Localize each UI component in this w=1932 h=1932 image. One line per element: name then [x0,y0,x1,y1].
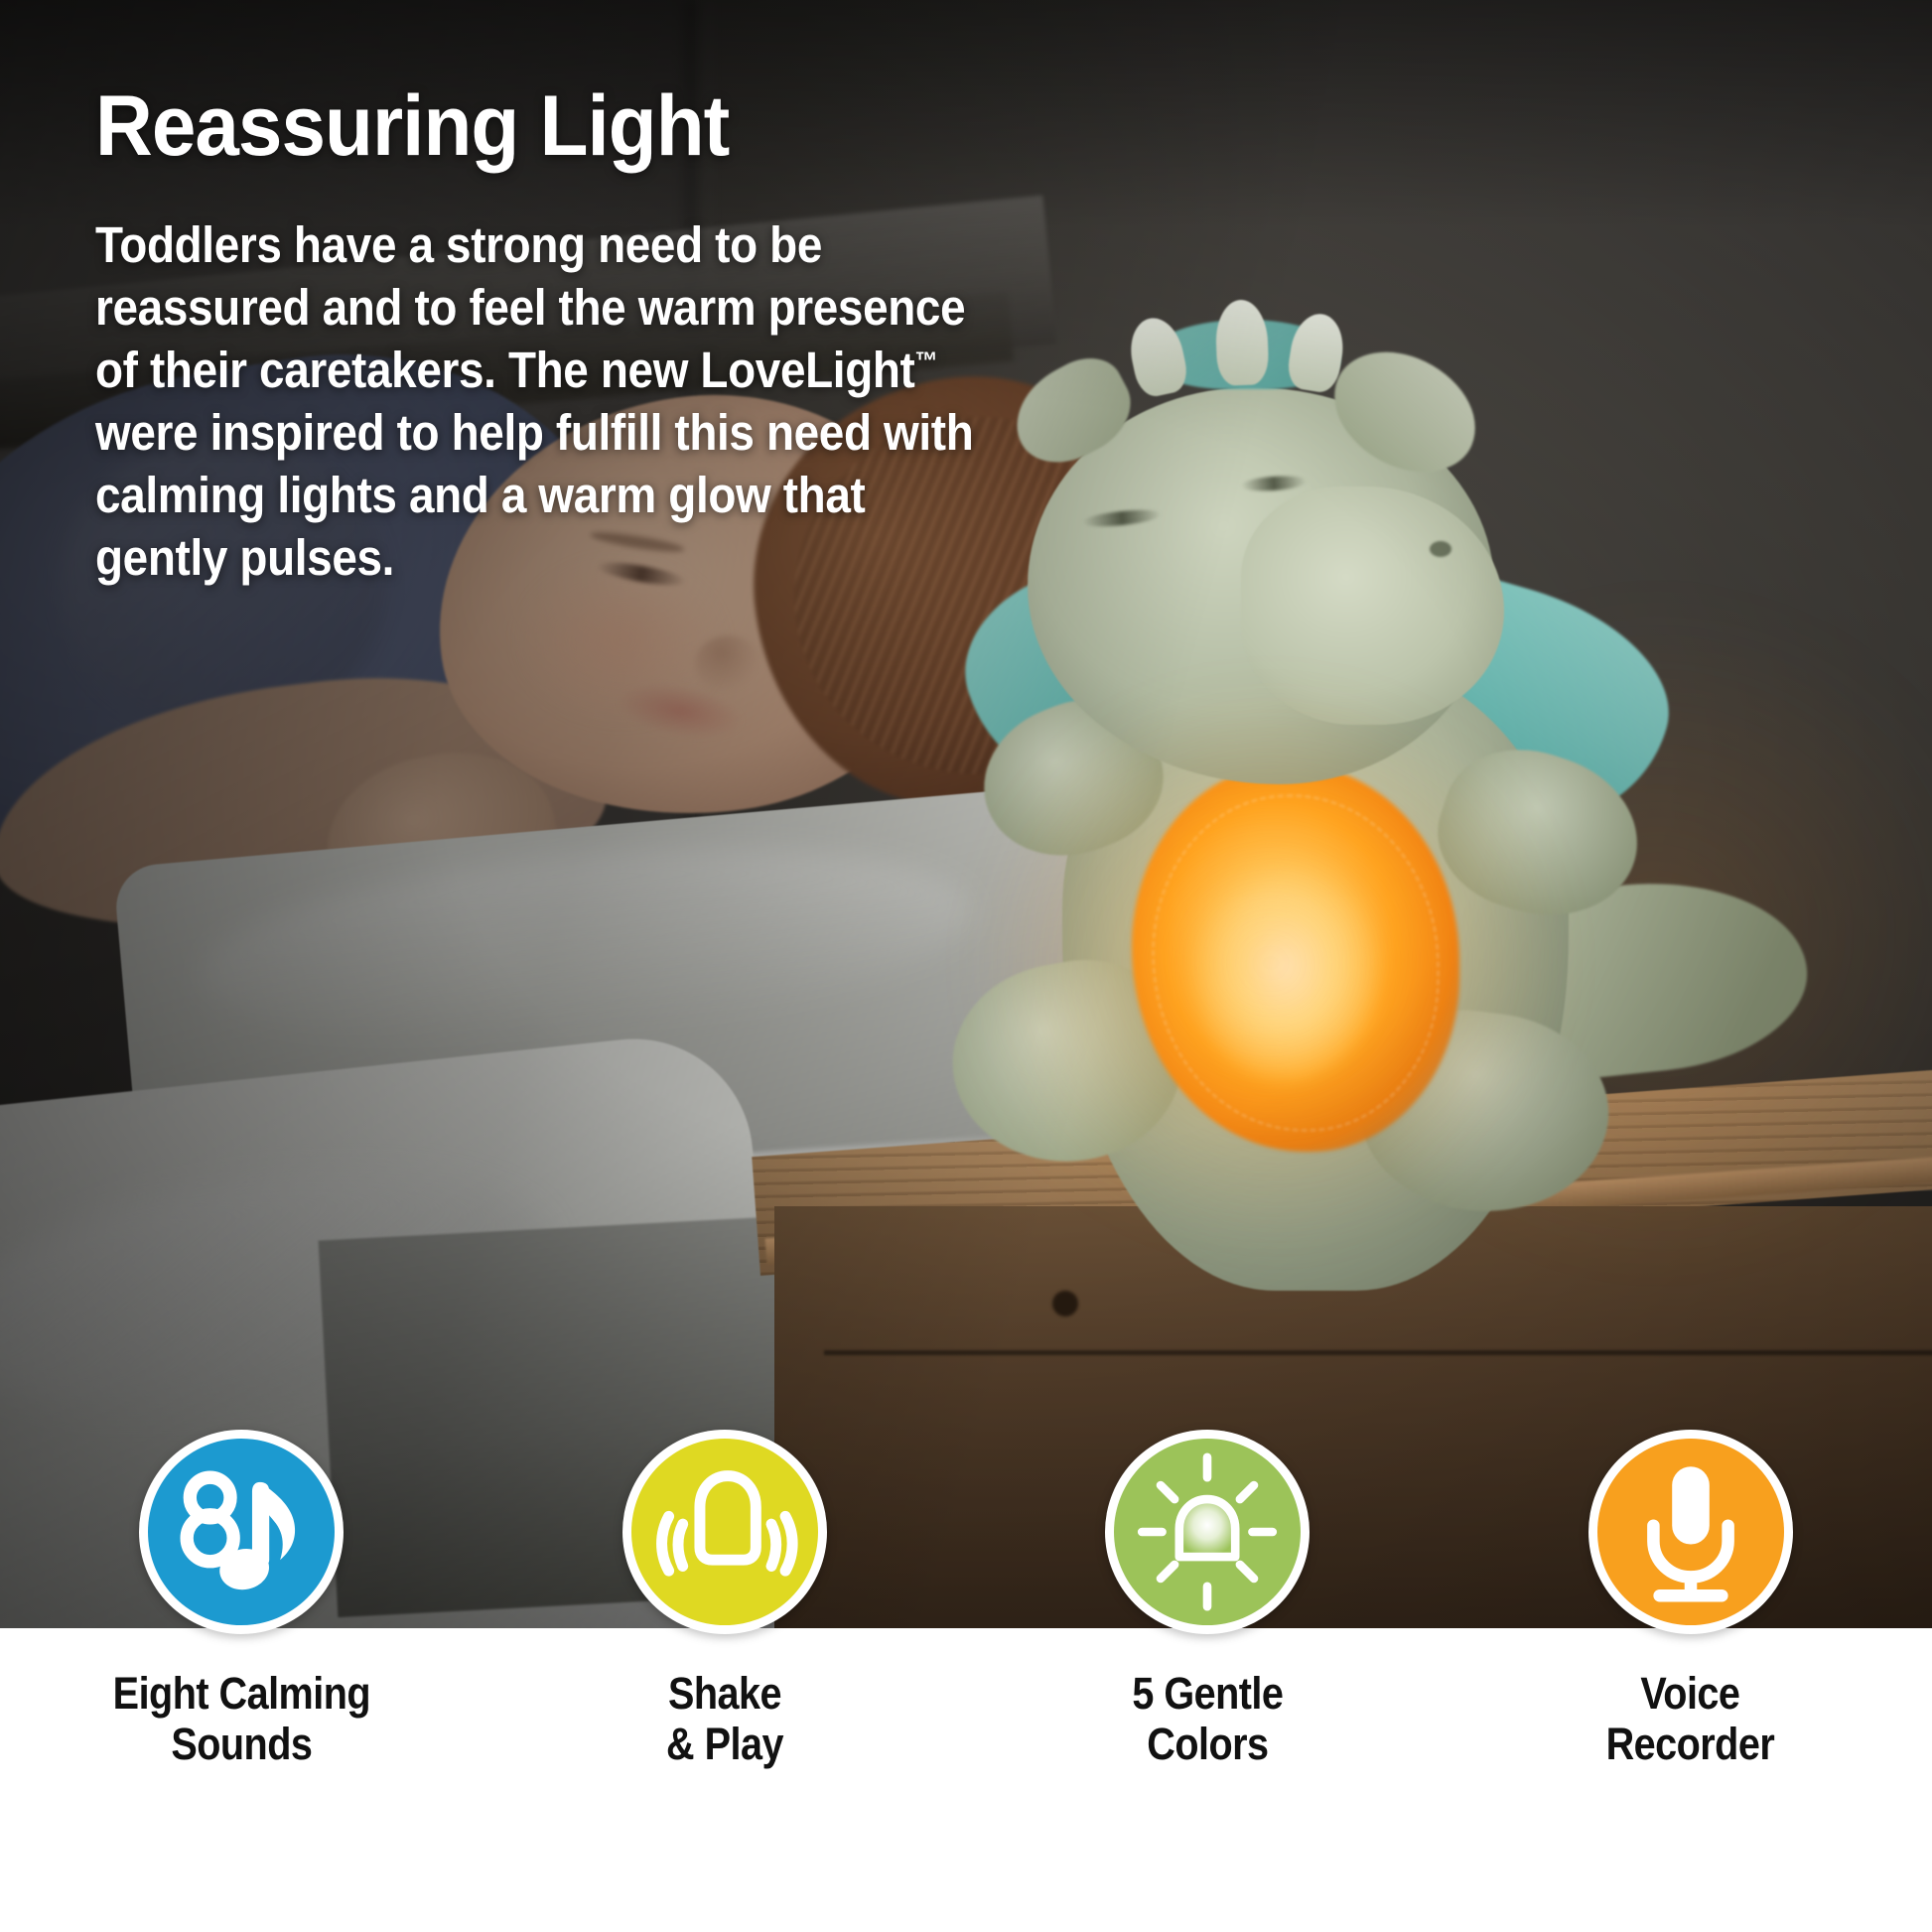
page-title: Reassuring Light [95,83,1028,171]
product-feature-card: Reassuring Light Toddlers have a strong … [0,0,1932,1932]
feature-caption-line1: 5 Gentle [1132,1668,1283,1719]
icon-ring-recorder [1588,1430,1793,1634]
body-text-part2: were inspired to help fulfill this need … [95,404,973,586]
nightstand-drawer-line [824,1350,1932,1355]
shake-motion-icon [631,1439,818,1625]
feature-item-sounds[interactable]: Eight Calming Sounds [33,1430,450,1770]
microphone-icon [1597,1439,1784,1625]
feature-item-recorder[interactable]: Voice Recorder [1482,1430,1899,1770]
trademark-symbol: ™ [914,347,937,375]
feature-caption-line2: & Play [666,1719,783,1769]
feature-caption-recorder: Voice Recorder [1606,1668,1775,1770]
child-nose [695,635,760,693]
dragon-nostril [1430,541,1451,557]
feature-caption-line2: Sounds [113,1719,370,1769]
feature-bar: Eight Calming Sounds [0,1628,1932,1932]
feature-caption-line2: Recorder [1606,1719,1775,1769]
feature-caption-line1: Voice [1606,1668,1775,1719]
feature-caption-line2: Colors [1132,1719,1283,1769]
feature-caption-line1: Shake [666,1668,783,1719]
feature-caption-colors: 5 Gentle Colors [1132,1668,1283,1770]
body-text-part1: Toddlers have a strong need to be reassu… [95,216,965,398]
feature-caption-shake: Shake & Play [666,1668,783,1770]
glowing-light-icon [1114,1439,1301,1625]
feature-item-shake[interactable]: Shake & Play [516,1430,933,1770]
body-paragraph: Toddlers have a strong need to be reassu… [95,214,998,590]
feature-list: Eight Calming Sounds [0,1430,1932,1932]
music-note-eight-icon [148,1439,335,1625]
feature-caption-line1: Eight Calming [113,1668,370,1719]
plush-dragon-nightlight [1003,328,1896,1320]
feature-item-colors[interactable]: 5 Gentle Colors [999,1430,1416,1770]
icon-ring-shake [622,1430,827,1634]
copy-block: Reassuring Light Toddlers have a strong … [95,83,1098,590]
icon-ring-colors [1105,1430,1310,1634]
feature-caption-sounds: Eight Calming Sounds [113,1668,370,1770]
icon-ring-sounds [139,1430,344,1634]
